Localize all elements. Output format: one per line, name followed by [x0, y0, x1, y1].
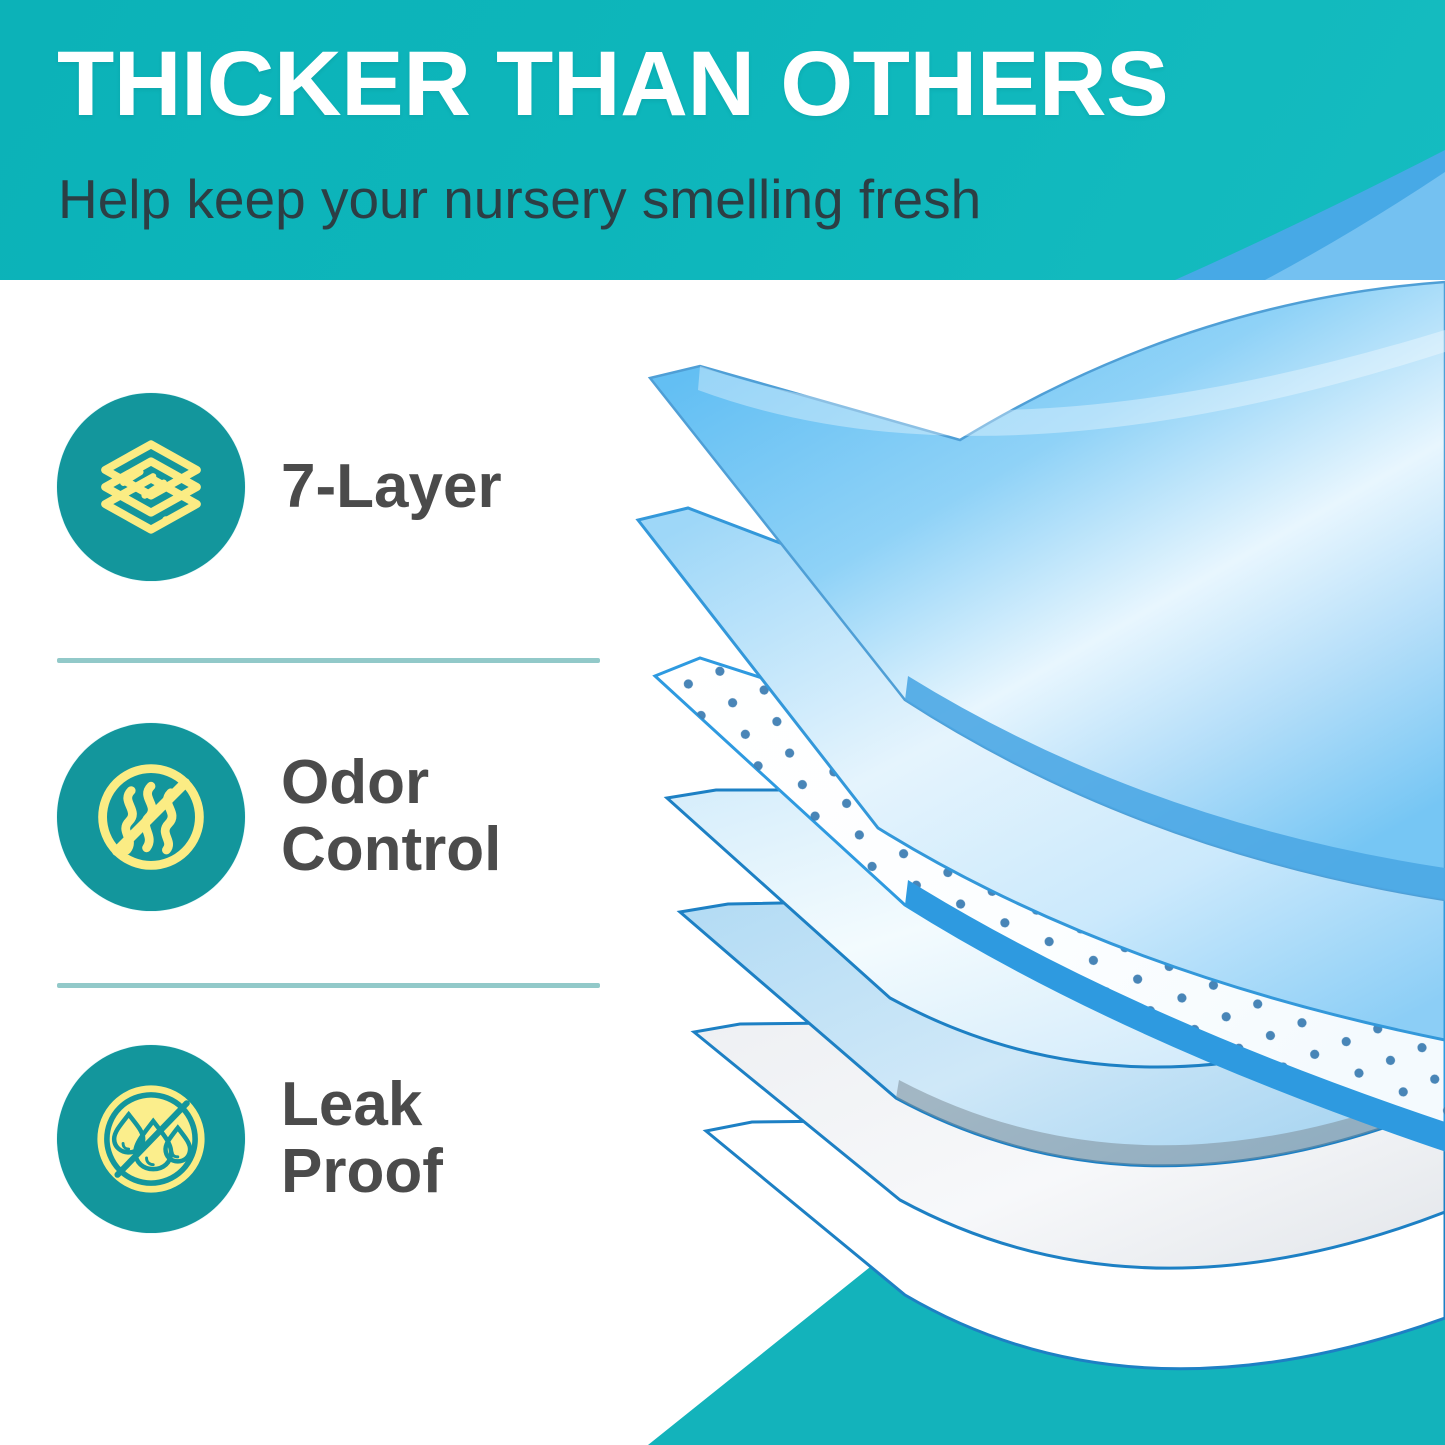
layer-mid-blue-shadow — [896, 1080, 1445, 1166]
infographic-root: THICKER THAN OTHERS Help keep your nurse… — [0, 0, 1445, 1445]
header-corner-sheet-decor — [1115, 150, 1445, 280]
layer-perforated — [655, 658, 1445, 1150]
layer-perforated-edge — [905, 880, 1445, 1150]
feature-divider-2 — [57, 983, 600, 988]
feature-item-7-layer: 7-Layer — [57, 393, 502, 581]
bottom-teal-chevron — [648, 1215, 1445, 1445]
feature-list: 7-Layer Odor Control — [0, 280, 640, 1290]
layer-grey — [694, 1022, 1445, 1268]
no-odor-icon — [57, 723, 245, 911]
stacked-layers-icon — [57, 393, 245, 581]
header-banner: THICKER THAN OTHERS Help keep your nurse… — [0, 0, 1445, 280]
layer-top-blue-edge — [905, 676, 1445, 900]
layer-mid-blue — [680, 900, 1445, 1166]
feature-label-odor-control: Odor Control — [281, 750, 501, 884]
layer-top-blue — [650, 282, 1445, 900]
feature-item-odor-control: Odor Control — [57, 723, 501, 911]
feature-label-7-layer: 7-Layer — [281, 454, 502, 521]
page-title: THICKER THAN OTHERS — [57, 38, 1168, 130]
layer-second-blue — [638, 508, 1445, 1040]
feature-item-leak-proof: Leak Proof — [57, 1045, 443, 1233]
layer-white-bottom — [706, 1120, 1445, 1369]
no-water-drops-icon — [57, 1045, 245, 1233]
page-subtitle: Help keep your nursery smelling fresh — [58, 172, 981, 227]
layer-top-blue-crease — [698, 330, 1445, 436]
layer-pale-blue — [667, 790, 1445, 1067]
feature-label-leak-proof: Leak Proof — [281, 1072, 443, 1206]
perforation-dots — [600, 620, 1445, 1220]
feature-divider-1 — [57, 658, 600, 663]
